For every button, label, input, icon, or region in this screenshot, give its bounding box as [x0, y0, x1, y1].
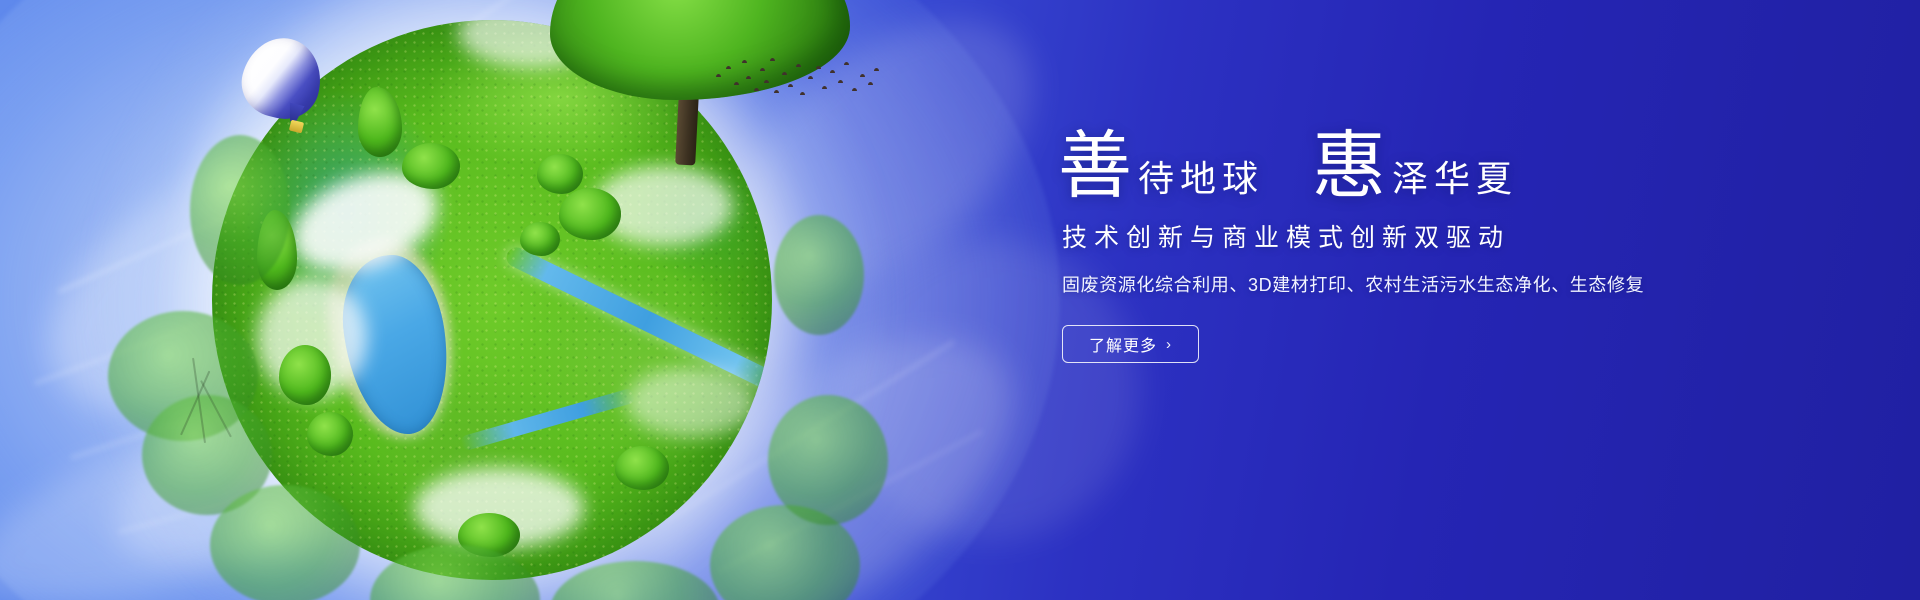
rim-tree-icon — [210, 485, 360, 600]
chevron-right-icon: › — [1166, 337, 1172, 352]
bush-icon — [458, 513, 520, 557]
cloud-band — [597, 281, 1063, 600]
cloud-icon — [593, 166, 733, 246]
cloud-icon — [257, 278, 367, 398]
rim-tree-icon — [710, 505, 860, 600]
rim-tree-icon — [774, 215, 864, 335]
rim-tree-icon — [550, 561, 720, 600]
learn-more-button[interactable]: 了解更多 › — [1062, 325, 1199, 363]
rim-tree-icon — [108, 311, 258, 441]
rim-tree-icon — [768, 395, 888, 525]
cloud-icon — [280, 154, 452, 290]
lake-shoreline — [316, 231, 463, 446]
bush-icon — [615, 446, 669, 490]
headline-phrase-1: 待地球 — [1138, 161, 1264, 197]
lake-icon — [334, 249, 458, 441]
bush-icon — [402, 143, 460, 189]
headline-phrase-2: 泽华夏 — [1392, 161, 1518, 197]
bird-flock-icon — [712, 48, 882, 108]
headline-char-2: 惠 — [1312, 130, 1386, 204]
tree-branch — [200, 380, 232, 437]
cloud-icon — [626, 367, 756, 437]
cloud-icon — [458, 20, 608, 68]
tree-trunk — [675, 55, 701, 166]
cloud-wisp — [665, 340, 955, 523]
page-title: 善 待地球 惠 泽华夏 — [1058, 130, 1818, 204]
bush-icon — [537, 154, 583, 194]
bush-icon — [520, 222, 560, 256]
cloud-wisp — [58, 120, 443, 294]
cloud-wisp — [70, 324, 480, 460]
cloud-icon — [414, 468, 584, 548]
headline-char-1: 善 — [1058, 130, 1132, 204]
rim-tree-icon — [142, 395, 272, 515]
cloud-band — [4, 13, 676, 486]
cloud-band — [145, 0, 695, 277]
learn-more-label: 了解更多 — [1089, 332, 1157, 356]
balloon-basket — [289, 120, 304, 134]
cloud-wisp — [717, 430, 983, 573]
hero-description: 固废资源化综合利用、3D建材打印、农村生活污水生态净化、生态修复 — [1062, 271, 1818, 297]
cloud-band — [0, 343, 490, 600]
hero-content: 善 待地球 惠 泽华夏 技术创新与商业模式创新双驱动 固废资源化综合利用、3D建… — [1058, 130, 1818, 363]
rim-tree-icon — [190, 135, 290, 285]
tree-branch — [180, 371, 210, 436]
river-icon — [503, 244, 772, 398]
hero-banner: 善 待地球 惠 泽华夏 技术创新与商业模式创新双驱动 固废资源化综合利用、3D建… — [0, 0, 1920, 600]
bush-icon — [257, 210, 297, 290]
cloud-wisp — [118, 409, 573, 534]
bush-icon — [358, 87, 402, 157]
bush-icon — [307, 412, 353, 456]
rim-tree-icon — [370, 545, 540, 600]
hot-air-balloon-icon — [243, 38, 325, 143]
cloud-band — [81, 216, 659, 600]
balloon-envelope — [234, 30, 329, 126]
hero-subtitle: 技术创新与商业模式创新双驱动 — [1062, 218, 1818, 254]
bush-icon — [279, 345, 331, 405]
river-icon — [460, 387, 637, 451]
tree-branch — [192, 358, 206, 443]
bush-icon — [559, 188, 621, 240]
sky-haze — [0, 0, 1060, 600]
cloud-wisp — [34, 218, 486, 385]
